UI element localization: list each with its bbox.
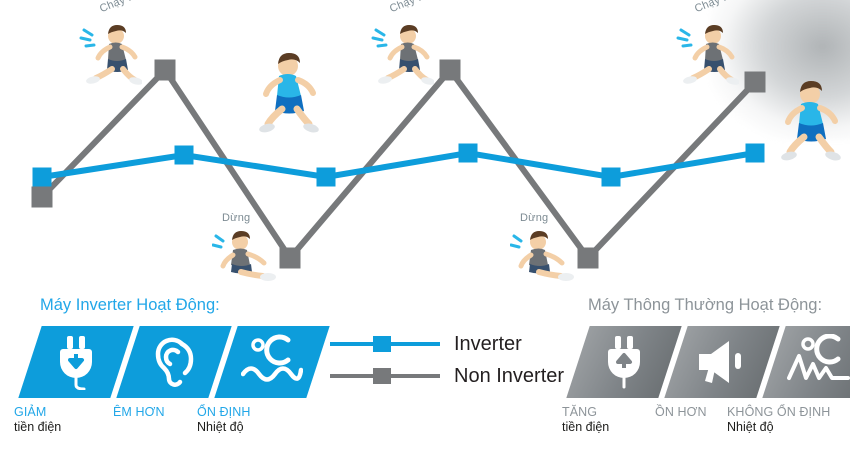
data-point-marker[interactable] [746, 144, 765, 163]
data-point-marker[interactable] [440, 60, 461, 81]
legend-label-non-inverter: Non Inverter [454, 365, 564, 388]
runner-blue-icon [780, 78, 842, 171]
tile-on-hon[interactable] [664, 326, 779, 398]
tile-giam-tien-dien[interactable] [18, 326, 133, 398]
data-point-marker[interactable] [32, 187, 53, 208]
non-inverter-panel-title: Máy Thông Thường Hoạt Động: [588, 296, 822, 315]
plug-up-arrow-icon [578, 326, 670, 398]
caption-tang: TĂNG tiền điện [562, 405, 609, 434]
tile-on-dinh-nhiet-do[interactable] [214, 326, 329, 398]
tile-em-hon[interactable] [116, 326, 231, 398]
caption-bottom: tiền điện [14, 420, 61, 434]
caption-bottom: tiền điện [562, 420, 609, 434]
legend-swatch-inverter [330, 334, 440, 354]
series-inverter [33, 144, 765, 187]
caption-em-hon: ÊM HƠN [113, 405, 165, 420]
data-point-marker[interactable] [745, 72, 766, 93]
caption-top: GIẢM [14, 405, 61, 419]
bottom-panels: Máy Inverter Hoạt Động: [0, 290, 850, 455]
comparison-line-chart: Chạy nhanhChạy nhanhChạy nhanhDừngDừng [0, 0, 850, 290]
inverter-panel-title: Máy Inverter Hoạt Động: [40, 296, 220, 315]
legend-item-inverter[interactable]: Inverter [330, 328, 564, 360]
caption-top: ÊM HƠN [113, 405, 165, 419]
caption-top: KHÔNG ỔN ĐỊNH [727, 405, 830, 419]
data-point-marker[interactable] [459, 144, 478, 163]
speaker-loud-icon [676, 326, 768, 398]
legend-swatch-non-inverter [330, 366, 440, 386]
runner-blue-icon [258, 50, 320, 143]
chart-legend: Inverter Non Inverter [330, 328, 564, 392]
runner-grey-icon [78, 22, 142, 95]
runner-grey-icon [675, 22, 739, 95]
caption-top: TĂNG [562, 405, 609, 419]
data-point-marker[interactable] [578, 248, 599, 269]
data-point-marker[interactable] [280, 248, 301, 269]
tile-tang-tien-dien[interactable] [566, 326, 681, 398]
caption-top: ỒN HƠN [655, 405, 707, 419]
sitting-person-icon [212, 228, 282, 291]
legend-square [373, 336, 391, 352]
legend-item-non-inverter[interactable]: Non Inverter [330, 360, 564, 392]
infographic-root: Chạy nhanhChạy nhanhChạy nhanhDừngDừng M… [0, 0, 850, 455]
caption-bottom: Nhiệt độ [197, 420, 250, 434]
data-point-marker[interactable] [155, 60, 176, 81]
series-line [42, 153, 755, 177]
chart-annotation-label: Dừng [520, 212, 548, 224]
non-inverter-tile-row [578, 326, 850, 398]
legend-square [373, 368, 391, 384]
inverter-tile-row [30, 326, 324, 398]
caption-bottom: Nhiệt độ [727, 420, 830, 434]
ear-icon [128, 326, 220, 398]
legend-label-inverter: Inverter [454, 333, 522, 356]
runner-grey-icon [370, 22, 434, 95]
plug-down-arrow-icon [30, 326, 122, 398]
caption-on-dinh: ỔN ĐỊNH Nhiệt độ [197, 405, 250, 434]
data-point-marker[interactable] [175, 146, 194, 165]
data-point-marker[interactable] [33, 168, 52, 187]
caption-on-hon: ỒN HƠN [655, 405, 707, 420]
celsius-wave-icon [226, 326, 318, 398]
caption-khong-on-dinh: KHÔNG ỔN ĐỊNH Nhiệt độ [727, 405, 830, 434]
celsius-zigzag-icon [774, 326, 850, 398]
data-point-marker[interactable] [317, 168, 336, 187]
caption-top: ỔN ĐỊNH [197, 405, 250, 419]
sitting-person-icon [510, 228, 580, 291]
data-point-marker[interactable] [602, 168, 621, 187]
chart-annotation-label: Dừng [222, 212, 250, 224]
caption-giam: GIẢM tiền điện [14, 405, 61, 434]
